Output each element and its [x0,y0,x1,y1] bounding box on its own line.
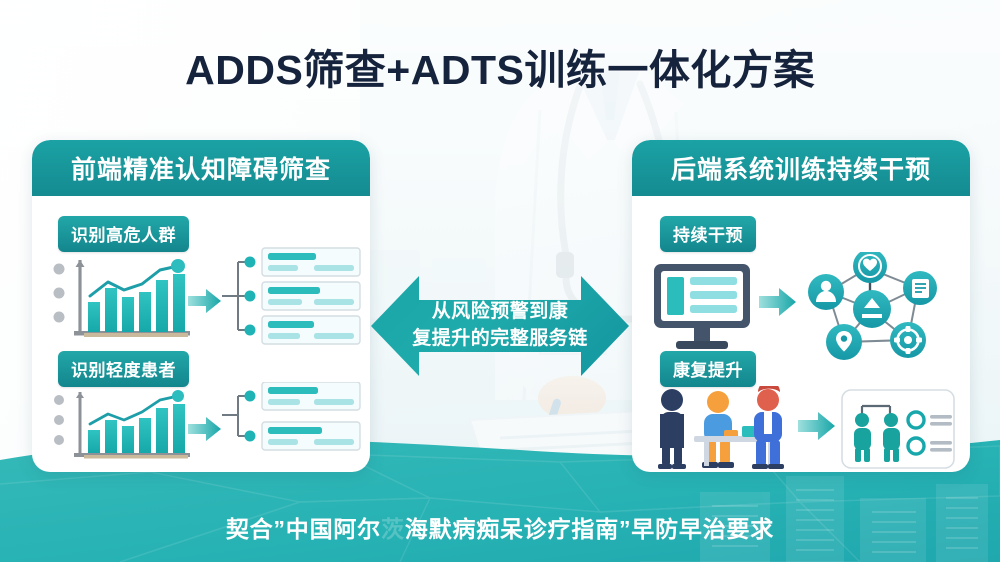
center-arrow-text: 从风险预警到康 复提升的完整服务链 [371,298,629,352]
center-arrow-line-2: 复提升的完整服务链 [371,325,629,352]
person-figure-standing [658,389,686,469]
label-identify-mild-patients[interactable]: 识别轻度患者 [58,351,189,387]
left-card-header: 前端精准认知障碍筛查 [32,140,370,196]
right-card-body: 持续干预 [632,196,970,472]
left-card-body: 识别高危人群 [32,196,370,472]
right-card: 后端系统训练持续干预 持续干预 [632,140,970,472]
network-node-hub [853,290,891,328]
left-card: 前端精准认知障碍筛查 识别高危人群 [32,140,370,472]
arrow-right-icon-4 [798,412,835,440]
label-identify-high-risk[interactable]: 识别高危人群 [58,216,189,252]
arrow-right-icon-2 [188,416,222,442]
left-section-1-label-wrap: 识别高危人群 [58,216,189,252]
network-node-gear [890,322,926,358]
result-rows-group-1 [222,246,362,346]
network-node-location-pin [826,324,862,360]
arrow-right-icon-1 [188,288,222,314]
center-arrow-line-1: 从风险预警到康 [371,298,629,325]
right-card-header: 后端系统训练持续干预 [632,140,970,196]
label-rehab-improvement[interactable]: 康复提升 [660,351,756,387]
right-section-2-label-wrap: 康复提升 [660,351,756,387]
network-node-heart [853,252,887,283]
footer-part-1: 契合”中国阿尔 [226,516,381,542]
rehab-people-illustration [646,386,958,472]
patient-record-card-icon [842,390,954,468]
footer-faint-char: 茨 [381,516,405,542]
footer-caption: 契合”中国阿尔茨海默病痴呆诊疗指南”早防早治要求 [0,510,1000,544]
arrow-right-icon-3 [759,288,796,316]
result-rows-group-2 [222,382,362,452]
right-section-1-label-wrap: 持续干预 [660,216,756,252]
slide-canvas: ADDS筛查+ADTS训练一体化方案 前端精准认知障碍筛查 识别高危人群 [0,0,1000,562]
network-node-document [903,271,937,305]
monitor-icon [654,264,750,349]
left-card-title: 前端精准认知障碍筛查 [71,150,331,186]
intervention-system-illustration [646,252,958,364]
footer-part-2: 海默病痴呆诊疗指南”早防早治要求 [405,516,774,542]
left-section-2-label-wrap: 识别轻度患者 [58,351,189,387]
page-title: ADDS筛查+ADTS训练一体化方案 [0,36,1000,96]
label-continuous-intervention[interactable]: 持续干预 [660,216,756,252]
network-node-person [808,274,844,310]
right-card-title: 后端系统训练持续干预 [671,150,931,186]
